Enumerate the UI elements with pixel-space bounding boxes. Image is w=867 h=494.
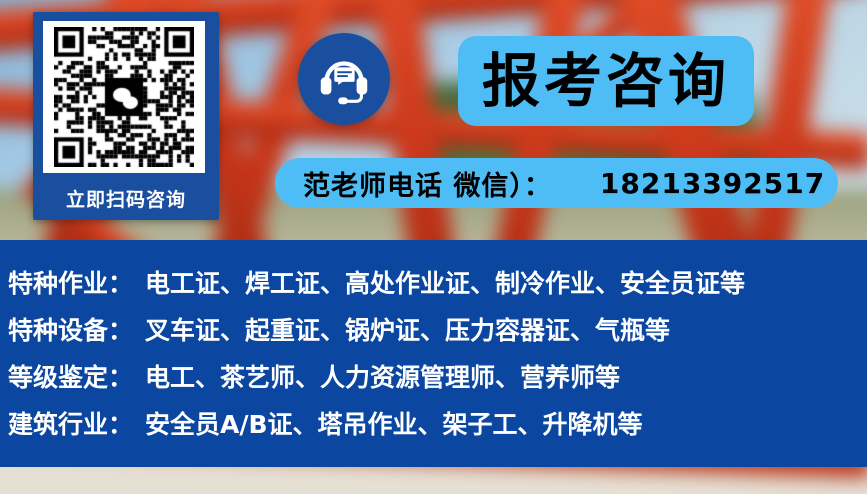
service-row: 等级鉴定： 电工、茶艺师、人力资源管理师、营养师等	[0, 352, 867, 399]
service-category: 特种设备：	[8, 311, 133, 347]
contact-phone-number[interactable]: 18213392517	[600, 167, 825, 200]
title-pill: 报考咨询	[458, 36, 754, 126]
service-category: 特种作业：	[8, 264, 133, 300]
services-panel: 特种作业： 电工证、焊工证、高处作业证、制冷作业、安全员证等 特种设备： 叉车证…	[0, 240, 867, 467]
headset-support-icon	[298, 33, 390, 125]
service-items: 安全员A/B证、塔吊作业、架子工、升降机等	[145, 405, 643, 441]
qr-code-frame	[43, 21, 205, 173]
service-items: 电工证、焊工证、高处作业证、制冷作业、安全员证等	[145, 264, 745, 300]
service-category: 建筑行业：	[8, 405, 133, 441]
wechat-qr-code-icon[interactable]	[54, 27, 194, 167]
service-category: 等级鉴定：	[8, 358, 133, 394]
service-row: 特种作业： 电工证、焊工证、高处作业证、制冷作业、安全员证等	[0, 258, 867, 305]
contact-pill[interactable]: 范老师电话 微信）： 18213392517	[275, 158, 838, 208]
service-items: 叉车证、起重证、锅炉证、压力容器证、气瓶等	[145, 311, 670, 347]
service-row: 特种设备： 叉车证、起重证、锅炉证、压力容器证、气瓶等	[0, 305, 867, 352]
service-items: 电工、茶艺师、人力资源管理师、营养师等	[145, 358, 620, 394]
qr-card[interactable]: 立即扫码咨询	[33, 12, 219, 220]
contact-name-label: 范老师电话 微信）：	[303, 164, 552, 203]
promo-poster: 立即扫码咨询 报考咨询 范老师电话 微信）： 18213392517 特种作业：…	[0, 0, 867, 494]
page-title: 报考咨询	[482, 52, 730, 110]
service-row: 建筑行业： 安全员A/B证、塔吊作业、架子工、升降机等	[0, 399, 867, 446]
qr-card-label: 立即扫码咨询	[37, 185, 215, 212]
